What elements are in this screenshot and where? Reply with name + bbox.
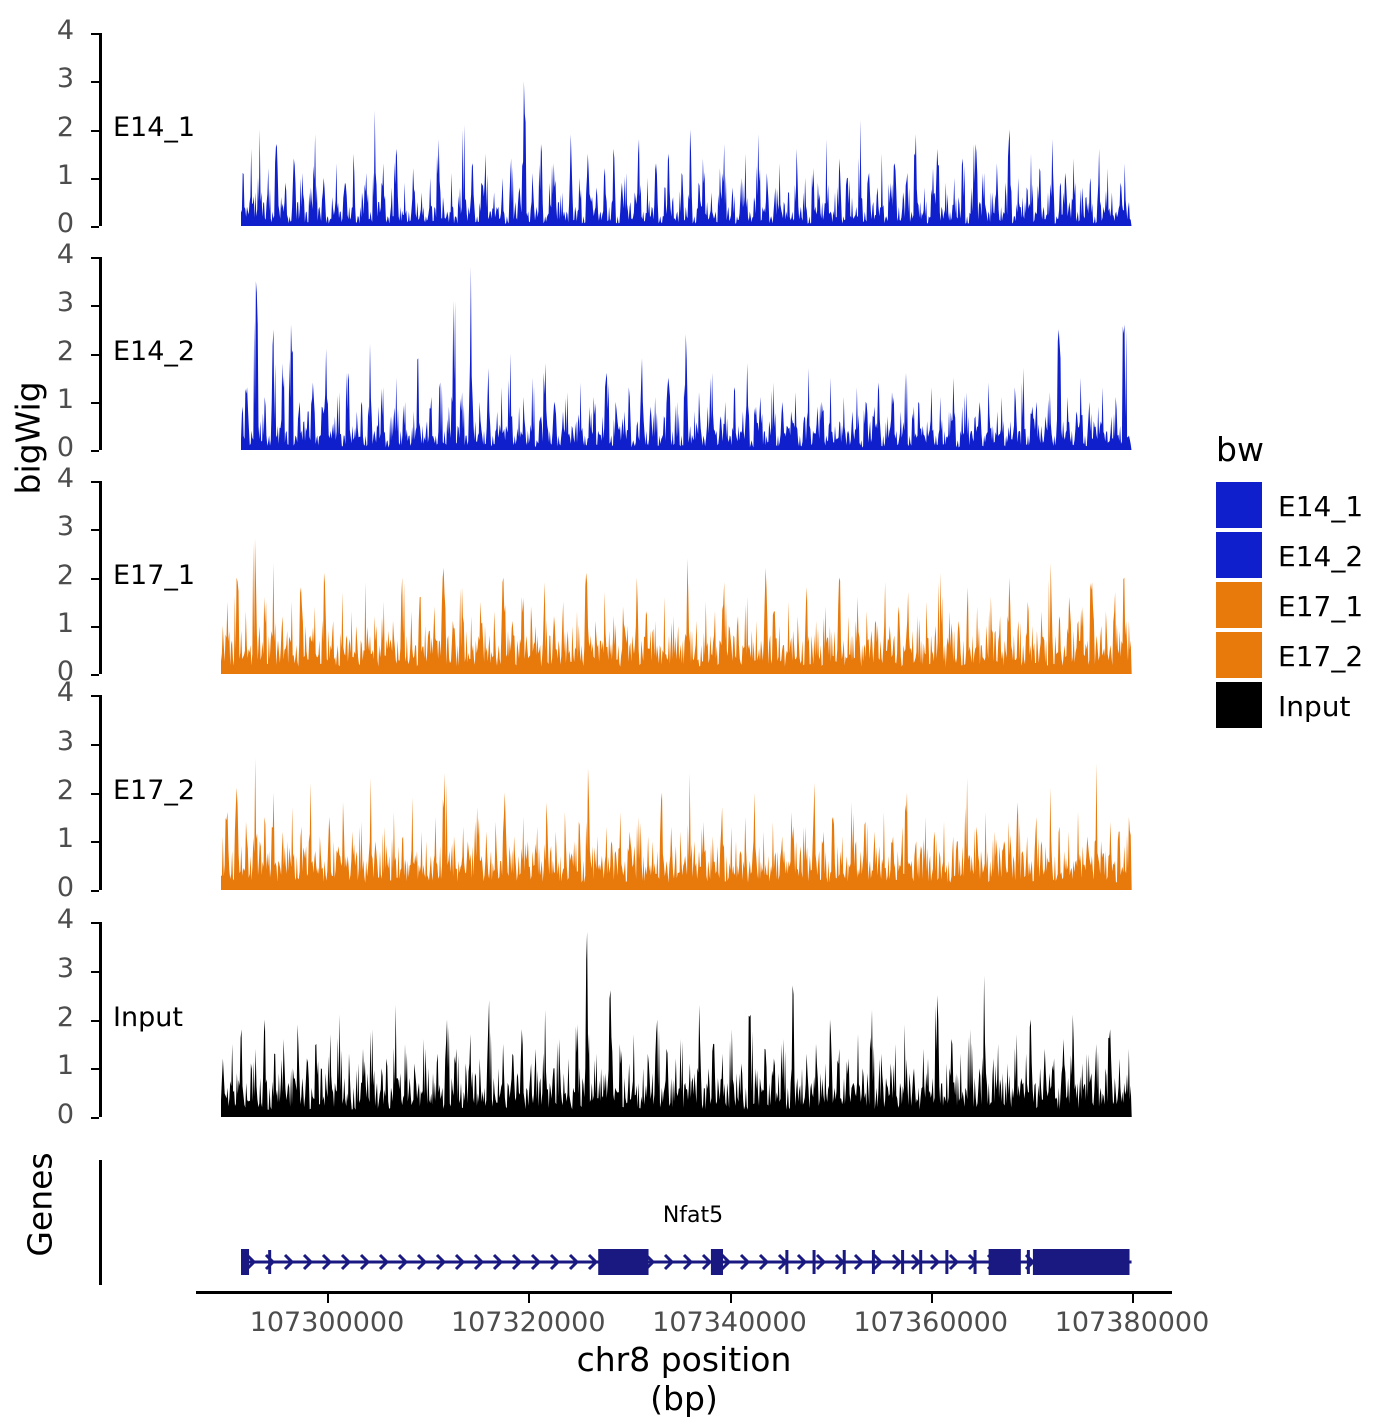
y-tick-E14_1-1 xyxy=(91,178,99,180)
y-tick-E17_2-2 xyxy=(91,793,99,795)
y-tick-label-Input-3: 3 xyxy=(24,953,74,984)
legend-label-E14_2: E14_2 xyxy=(1278,540,1363,573)
y-tick-E17_1-4 xyxy=(91,481,99,483)
track-panel-E14_2: 01234E14_2 xyxy=(0,0,1400,1400)
x-tick-107340000 xyxy=(730,1294,732,1303)
track-label-E14_1: E14_1 xyxy=(113,112,195,143)
y-tick-Input-4 xyxy=(91,922,99,924)
y-tick-E17_2-4 xyxy=(91,695,99,697)
signal-area-E17_1 xyxy=(221,481,1132,676)
y-tick-E17_1-3 xyxy=(91,529,99,531)
signal-area-Input xyxy=(221,922,1132,1119)
y-tick-label-E14_1-3: 3 xyxy=(24,63,74,94)
genes-axis-spine xyxy=(99,1160,102,1285)
y-tick-Input-2 xyxy=(91,1020,99,1022)
y-tick-label-Input-2: 2 xyxy=(24,1002,74,1033)
y-tick-E14_2-2 xyxy=(91,354,99,356)
gene-label-nfat5: Nfat5 xyxy=(593,1203,793,1228)
track-label-E14_2: E14_2 xyxy=(113,336,195,367)
x-tick-107320000 xyxy=(528,1294,530,1303)
y-tick-Input-1 xyxy=(91,1068,99,1070)
gene-track-area[interactable] xyxy=(241,1242,1134,1282)
genes-axis-title: Genes xyxy=(21,1145,60,1265)
y-tick-Input-3 xyxy=(91,971,99,973)
y-tick-label-E17_2-3: 3 xyxy=(24,726,74,757)
y-tick-label-E14_1-0: 0 xyxy=(24,208,74,239)
x-tick-107300000 xyxy=(327,1294,329,1303)
legend-swatch-E17_1[interactable] xyxy=(1216,582,1262,628)
x-tick-label-107300000: 107300000 xyxy=(217,1307,437,1338)
y-tick-label-E17_2-1: 1 xyxy=(24,823,74,854)
track-label-E17_1: E17_1 xyxy=(113,560,195,591)
y-tick-E14_2-1 xyxy=(91,402,99,404)
y-tick-E14_2-4 xyxy=(91,257,99,259)
plot-area-E14_2 xyxy=(241,257,1132,452)
y-tick-label-Input-1: 1 xyxy=(24,1050,74,1081)
y-tick-E14_2-0 xyxy=(91,450,99,452)
y-tick-label-E17_2-2: 2 xyxy=(24,775,74,806)
y-axis-spine-E14_2 xyxy=(99,257,102,450)
y-tick-label-E14_2-2: 2 xyxy=(24,336,74,367)
y-tick-E14_1-3 xyxy=(91,81,99,83)
y-tick-label-E17_2-0: 0 xyxy=(24,872,74,903)
y-tick-label-E14_2-3: 3 xyxy=(24,287,74,318)
gene-model-glyph[interactable] xyxy=(241,1242,1134,1282)
legend-title: bw xyxy=(1216,430,1264,469)
plot-area-E14_1 xyxy=(241,33,1132,228)
x-tick-107360000 xyxy=(931,1294,933,1303)
y-axis-spine-E17_2 xyxy=(99,695,102,890)
y-tick-label-E17_1-2: 2 xyxy=(24,560,74,591)
y-tick-E17_2-0 xyxy=(91,890,99,892)
signal-area-E17_2 xyxy=(221,695,1132,892)
y-tick-E17_2-3 xyxy=(91,744,99,746)
y-tick-E14_1-4 xyxy=(91,33,99,35)
track-panel-E14_1: 01234E14_1 xyxy=(0,0,1400,1400)
y-axis-spine-E17_1 xyxy=(99,481,102,674)
y-tick-label-E17_2-4: 4 xyxy=(24,677,74,708)
y-tick-Input-0 xyxy=(91,1117,99,1119)
y-tick-E17_1-2 xyxy=(91,578,99,580)
legend-label-Input: Input xyxy=(1278,690,1351,723)
y-tick-E14_1-0 xyxy=(91,226,99,228)
legend-label-E17_1: E17_1 xyxy=(1278,590,1363,623)
legend-label-E17_2: E17_2 xyxy=(1278,640,1363,673)
x-tick-label-107320000: 107320000 xyxy=(418,1307,638,1338)
y-tick-label-E14_1-2: 2 xyxy=(24,112,74,143)
track-panel-Input: 01234Input xyxy=(0,0,1400,1400)
plot-area-E17_2 xyxy=(221,695,1132,892)
y-tick-label-E14_2-4: 4 xyxy=(24,239,74,270)
y-tick-E14_2-3 xyxy=(91,305,99,307)
x-tick-label-107360000: 107360000 xyxy=(821,1307,1041,1338)
legend-swatch-Input[interactable] xyxy=(1216,682,1262,728)
y-tick-label-E17_1-1: 1 xyxy=(24,608,74,639)
y-tick-label-E17_1-0: 0 xyxy=(24,656,74,687)
y-axis-spine-E14_1 xyxy=(99,33,102,226)
y-tick-label-Input-0: 0 xyxy=(24,1099,74,1130)
y-axis-spine-Input xyxy=(99,922,102,1117)
x-tick-label-107340000: 107340000 xyxy=(620,1307,840,1338)
plot-area-Input xyxy=(221,922,1132,1119)
track-label-E17_2: E17_2 xyxy=(113,775,195,806)
legend-label-E14_1: E14_1 xyxy=(1278,490,1363,523)
track-panel-E17_2: 01234E17_2 xyxy=(0,0,1400,1400)
y-tick-label-E14_1-4: 4 xyxy=(24,15,74,46)
legend-swatch-E14_1[interactable] xyxy=(1216,482,1262,528)
y-tick-E17_1-1 xyxy=(91,626,99,628)
x-axis-title: chr8 position (bp) xyxy=(574,1340,794,1418)
legend-swatch-E14_2[interactable] xyxy=(1216,532,1262,578)
y-tick-label-E17_1-3: 3 xyxy=(24,511,74,542)
signal-area-E14_1 xyxy=(241,33,1132,228)
plot-area-E17_1 xyxy=(221,481,1132,676)
x-tick-107380000 xyxy=(1132,1294,1134,1303)
y-tick-label-E14_1-1: 1 xyxy=(24,160,74,191)
y-axis-title: bigWig xyxy=(9,455,48,495)
x-axis-line xyxy=(196,1291,1172,1294)
y-tick-E14_1-2 xyxy=(91,130,99,132)
signal-area-E14_2 xyxy=(241,257,1132,452)
legend-swatch-E17_2[interactable] xyxy=(1216,632,1262,678)
figure-root: bigWig Genes 01234E14_101234E14_201234E1… xyxy=(0,0,1400,1400)
x-tick-label-107380000: 107380000 xyxy=(1022,1307,1242,1338)
y-tick-E17_1-0 xyxy=(91,674,99,676)
track-label-Input: Input xyxy=(113,1002,183,1033)
track-panel-E17_1: 01234E17_1 xyxy=(0,0,1400,1400)
y-tick-label-Input-4: 4 xyxy=(24,904,74,935)
y-tick-E17_2-1 xyxy=(91,841,99,843)
